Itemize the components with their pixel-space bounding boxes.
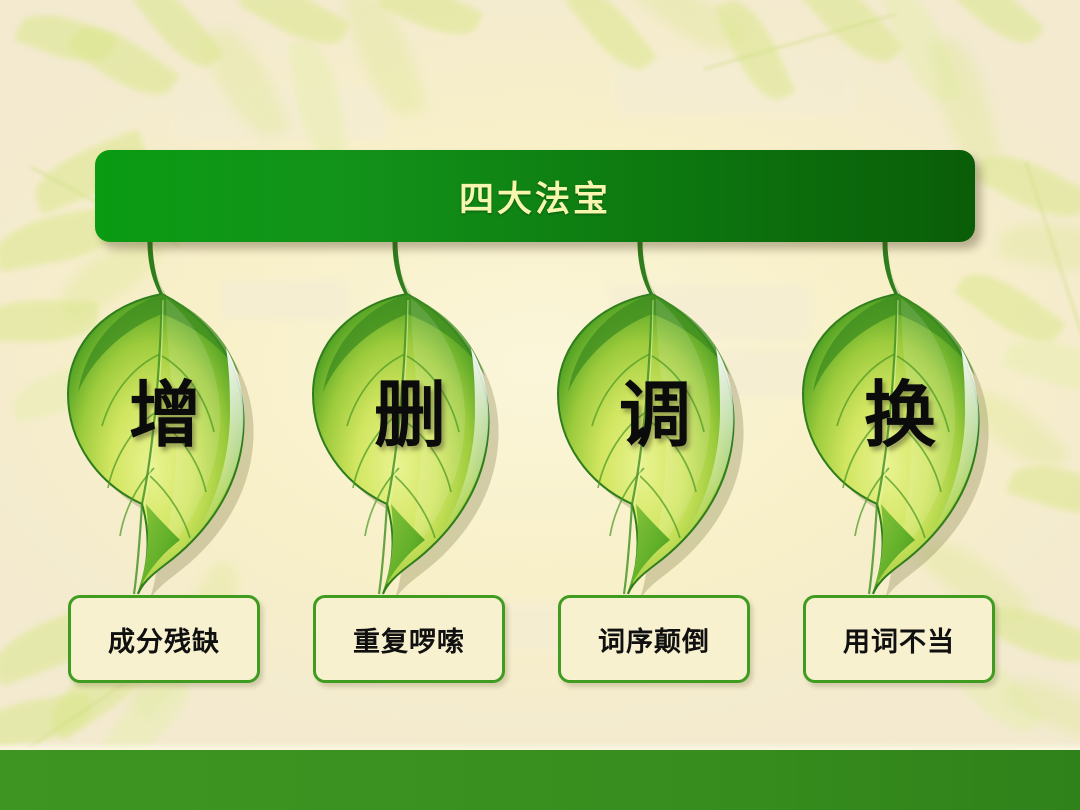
leaf-item-1[interactable]: 增 <box>50 236 280 616</box>
leaf-char: 增 <box>50 356 280 461</box>
label-text: 词序颠倒 <box>598 620 710 659</box>
label-box-1[interactable]: 成分残缺 <box>68 595 260 683</box>
leaf-char: 调 <box>540 356 770 461</box>
label-text: 用词不当 <box>843 620 955 659</box>
label-box-2[interactable]: 重复啰嗦 <box>313 595 505 683</box>
label-box-3[interactable]: 词序颠倒 <box>558 595 750 683</box>
leaf-item-4[interactable]: 换 <box>785 236 1015 616</box>
footer-edge <box>0 742 1080 750</box>
leaf-item-2[interactable]: 删 <box>295 236 525 616</box>
slide-canvas: 四大法宝 <box>0 0 1080 810</box>
footer-bar <box>0 750 1080 810</box>
label-text: 重复啰嗦 <box>353 620 465 659</box>
leaf-item-3[interactable]: 调 <box>540 236 770 616</box>
page-title: 四大法宝 <box>459 171 611 222</box>
label-box-4[interactable]: 用词不当 <box>803 595 995 683</box>
title-banner: 四大法宝 <box>95 150 975 242</box>
leaf-char: 换 <box>785 356 1015 461</box>
leaf-char: 删 <box>295 356 525 461</box>
label-text: 成分残缺 <box>108 620 220 659</box>
